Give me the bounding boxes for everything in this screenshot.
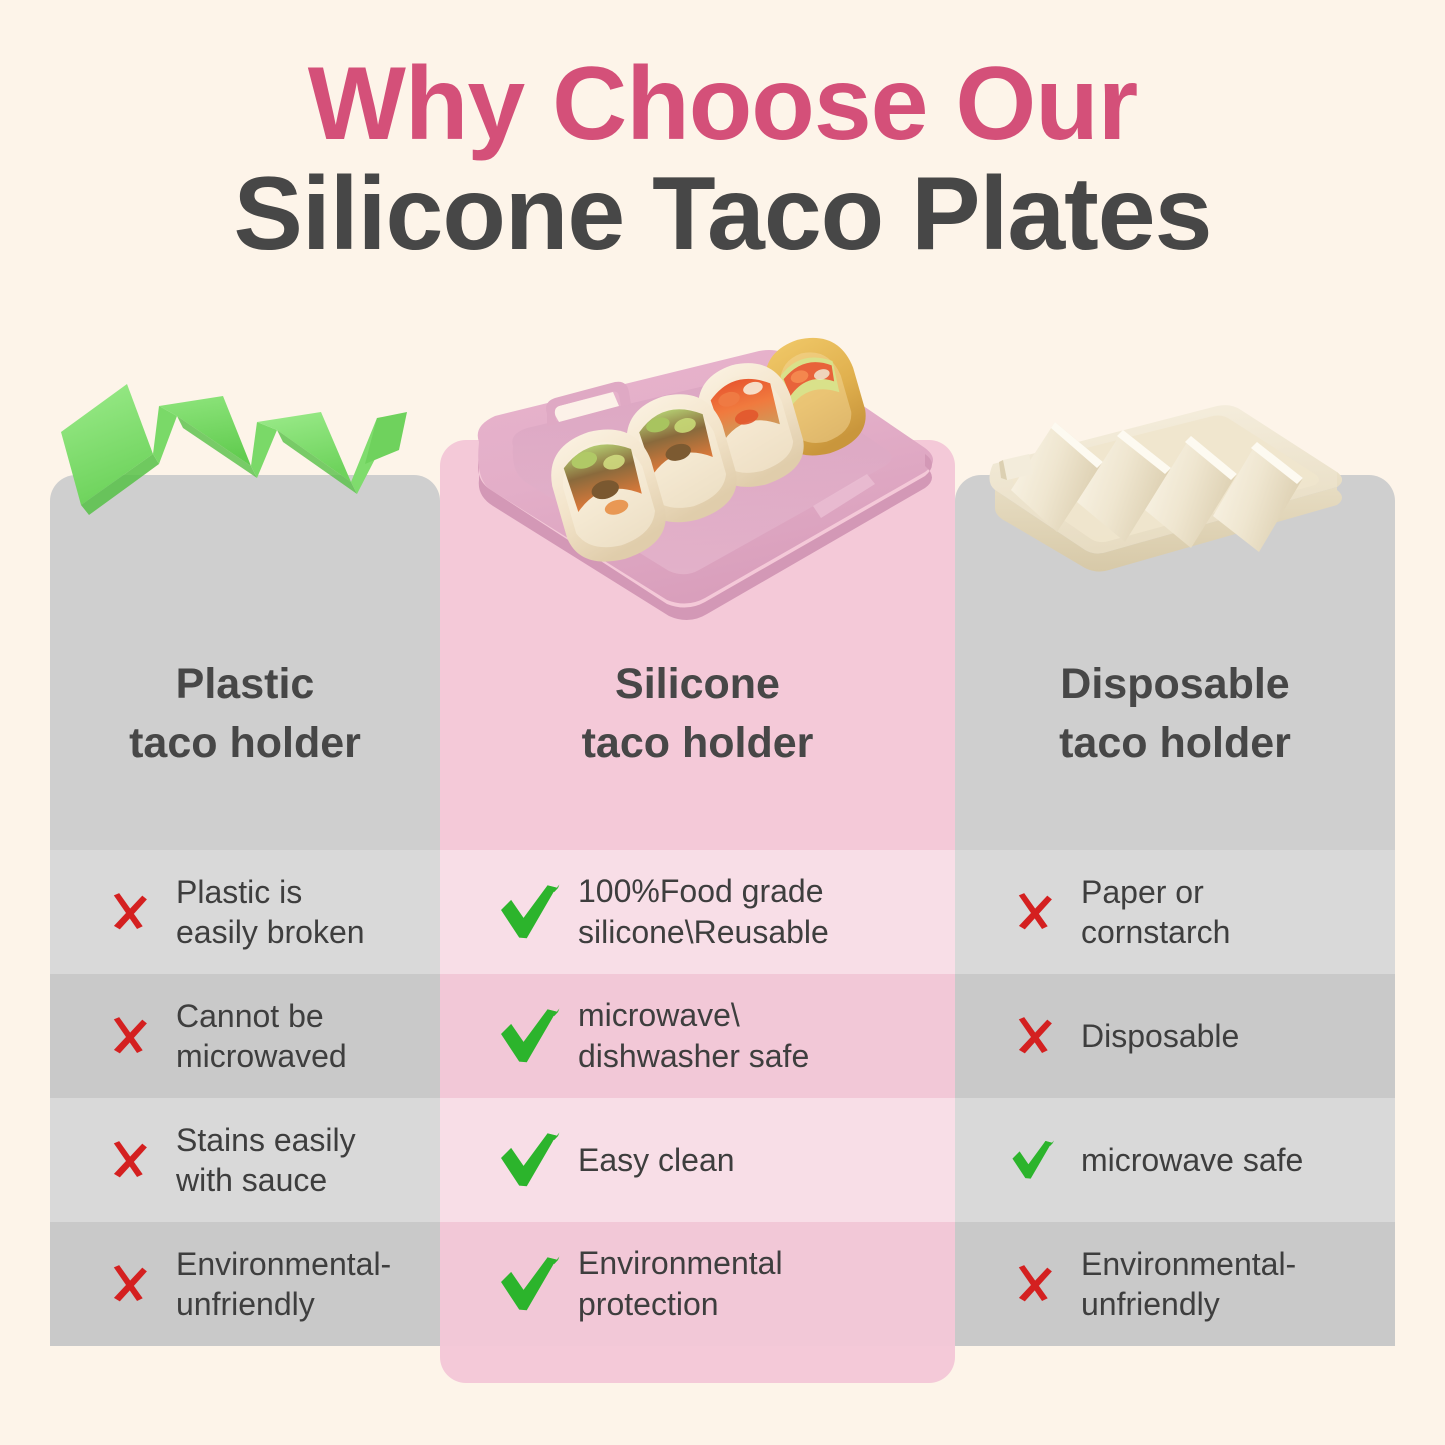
feature-row: microwave safe bbox=[955, 1098, 1395, 1222]
feature-row: 100%Food grade silicone\Reusable bbox=[440, 850, 955, 974]
column-header-plastic: Plastic taco holder bbox=[50, 655, 440, 773]
feature-row: Paper or cornstarch bbox=[955, 850, 1395, 974]
feature-row: microwave\ dishwasher safe bbox=[440, 974, 955, 1098]
feature-row: Easy clean bbox=[440, 1098, 955, 1222]
green-check-icon bbox=[482, 1005, 578, 1067]
column-header-line2: taco holder bbox=[440, 714, 955, 773]
title-line-primary: Why Choose Our bbox=[0, 52, 1445, 156]
feature-text: Disposable bbox=[1081, 1016, 1239, 1056]
red-cross-icon bbox=[985, 1015, 1081, 1057]
feature-text: microwave safe bbox=[1081, 1140, 1303, 1180]
feature-text: Cannot be microwaved bbox=[176, 996, 347, 1076]
feature-text: Plastic is easily broken bbox=[176, 872, 365, 952]
red-cross-icon bbox=[80, 1015, 176, 1057]
green-check-icon bbox=[482, 881, 578, 943]
column-header-line1: Silicone bbox=[440, 655, 955, 714]
feature-row: Environmental- unfriendly bbox=[955, 1222, 1395, 1346]
feature-text: Stains easily with sauce bbox=[176, 1120, 356, 1200]
red-cross-icon bbox=[80, 1139, 176, 1181]
comparison-column-plastic: Plastic taco holder Plastic is easily br… bbox=[50, 475, 440, 1345]
feature-text: microwave\ dishwasher safe bbox=[578, 995, 809, 1077]
feature-text: Easy clean bbox=[578, 1140, 735, 1181]
feature-text: Environmental protection bbox=[578, 1243, 783, 1325]
feature-text: Environmental- unfriendly bbox=[176, 1244, 391, 1324]
green-check-icon bbox=[985, 1138, 1081, 1182]
green-check-icon bbox=[482, 1253, 578, 1315]
feature-row: Environmental protection bbox=[440, 1222, 955, 1346]
red-cross-icon bbox=[985, 1263, 1081, 1305]
feature-text: Paper or cornstarch bbox=[1081, 872, 1230, 952]
column-header-silicone: Silicone taco holder bbox=[440, 655, 955, 773]
column-header-line2: taco holder bbox=[50, 714, 440, 773]
comparison-column-silicone: Silicone taco holder 100%Food grade sili… bbox=[440, 440, 955, 1383]
feature-row: Environmental- unfriendly bbox=[50, 1222, 440, 1346]
feature-row: Cannot be microwaved bbox=[50, 974, 440, 1098]
comparison-column-disposable: Disposable taco holder Paper or cornstar… bbox=[955, 475, 1395, 1345]
feature-row: Stains easily with sauce bbox=[50, 1098, 440, 1222]
column-header-line1: Plastic bbox=[50, 655, 440, 714]
red-cross-icon bbox=[985, 891, 1081, 933]
column-header-disposable: Disposable taco holder bbox=[955, 655, 1395, 773]
red-cross-icon bbox=[80, 891, 176, 933]
page-title: Why Choose Our Silicone Taco Plates bbox=[0, 52, 1445, 270]
infographic-root: Why Choose Our Silicone Taco Plates Plas… bbox=[0, 0, 1445, 1445]
title-line-secondary: Silicone Taco Plates bbox=[0, 158, 1445, 270]
column-header-line2: taco holder bbox=[955, 714, 1395, 773]
feature-text: Environmental- unfriendly bbox=[1081, 1244, 1296, 1324]
feature-row: Plastic is easily broken bbox=[50, 850, 440, 974]
feature-row: Disposable bbox=[955, 974, 1395, 1098]
red-cross-icon bbox=[80, 1263, 176, 1305]
green-check-icon bbox=[482, 1129, 578, 1191]
feature-text: 100%Food grade silicone\Reusable bbox=[578, 871, 829, 953]
column-header-line1: Disposable bbox=[955, 655, 1395, 714]
